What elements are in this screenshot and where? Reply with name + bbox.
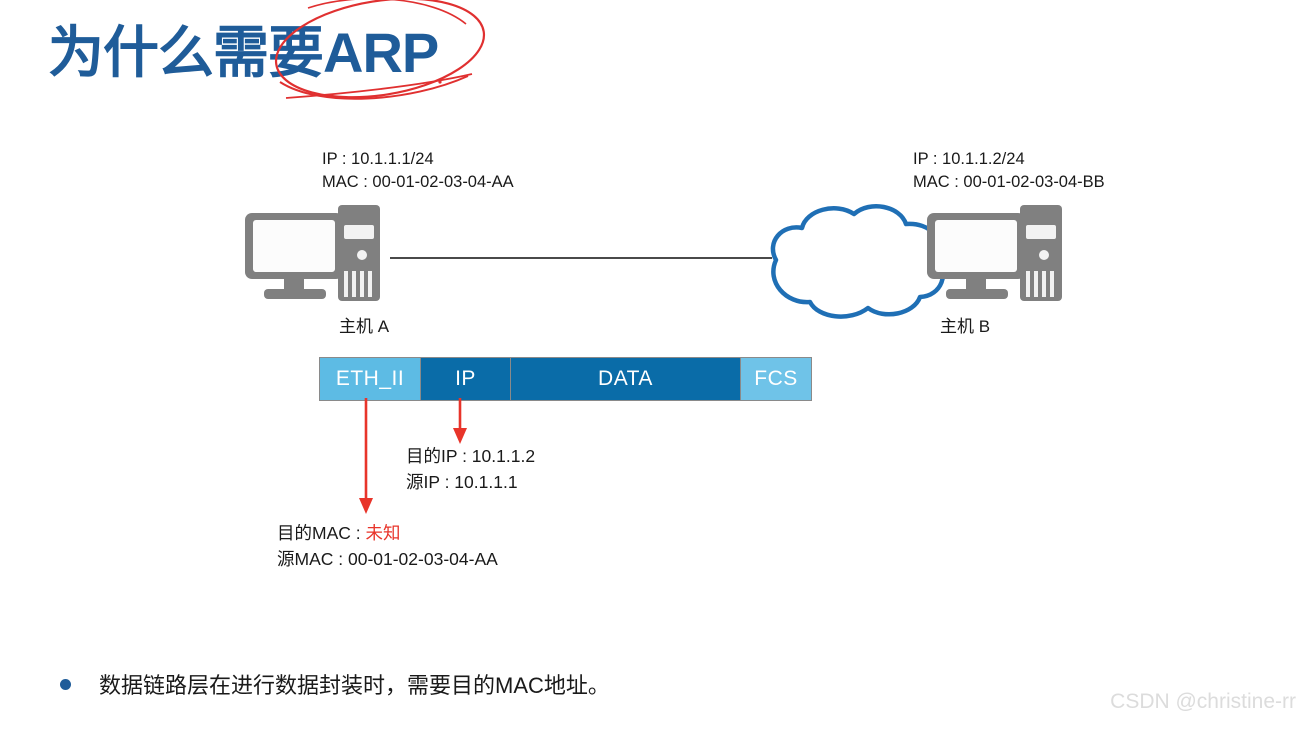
host-a-label: 主机 A: [339, 312, 389, 337]
host-a-to-cloud-link: [390, 257, 772, 259]
ip-callout-src: 源IP : 10.1.1.1: [406, 469, 535, 495]
host-a-ip: IP : 10.1.1.1/24: [322, 148, 514, 171]
ip-callout-dest: 目的IP : 10.1.1.2: [406, 443, 535, 469]
ip-callout-text: 目的IP : 10.1.1.2 源IP : 10.1.1.1: [406, 443, 535, 495]
mac-callout-src: 源MAC : 00-01-02-03-04-AA: [277, 546, 498, 572]
bullet-dot-icon: [60, 679, 71, 690]
host-b-computer-icon: [924, 203, 1072, 308]
page-title: 为什么需要ARP: [48, 8, 438, 89]
mac-callout-arrow: [356, 398, 376, 516]
frame-segment-data: DATA: [511, 358, 741, 400]
mac-callout-dest: 目的MAC : 未知: [277, 520, 498, 546]
mac-callout-text: 目的MAC : 未知 源MAC : 00-01-02-03-04-AA: [277, 520, 498, 572]
host-a-info: IP : 10.1.1.1/24 MAC : 00-01-02-03-04-AA: [322, 148, 514, 194]
mac-callout-dest-value: 未知: [365, 523, 400, 543]
bullet-row: 数据链路层在进行数据封装时，需要目的MAC地址。: [60, 668, 610, 700]
ethernet-frame-diagram: ETH_II IP DATA FCS: [319, 357, 812, 401]
slide-canvas: 为什么需要ARP IP : 10.1.1.1/24 MAC : 00-01-02…: [0, 0, 1314, 730]
bullet-text: 数据链路层在进行数据封装时，需要目的MAC地址。: [99, 668, 610, 700]
frame-segment-eth: ETH_II: [320, 358, 421, 400]
watermark: CSDN @christine-rr: [1110, 690, 1296, 714]
frame-segment-ip: IP: [421, 358, 511, 400]
mac-callout-dest-label: 目的MAC :: [277, 523, 365, 543]
host-b-info: IP : 10.1.1.2/24 MAC : 00-01-02-03-04-BB: [913, 148, 1105, 194]
ip-callout-arrow: [450, 398, 470, 446]
host-a-computer-icon: [242, 203, 390, 308]
host-a-mac: MAC : 00-01-02-03-04-AA: [322, 171, 514, 194]
host-b-mac: MAC : 00-01-02-03-04-BB: [913, 171, 1105, 194]
host-b-ip: IP : 10.1.1.2/24: [913, 148, 1105, 171]
host-b-label: 主机 B: [940, 312, 990, 337]
frame-segment-fcs: FCS: [741, 358, 811, 400]
